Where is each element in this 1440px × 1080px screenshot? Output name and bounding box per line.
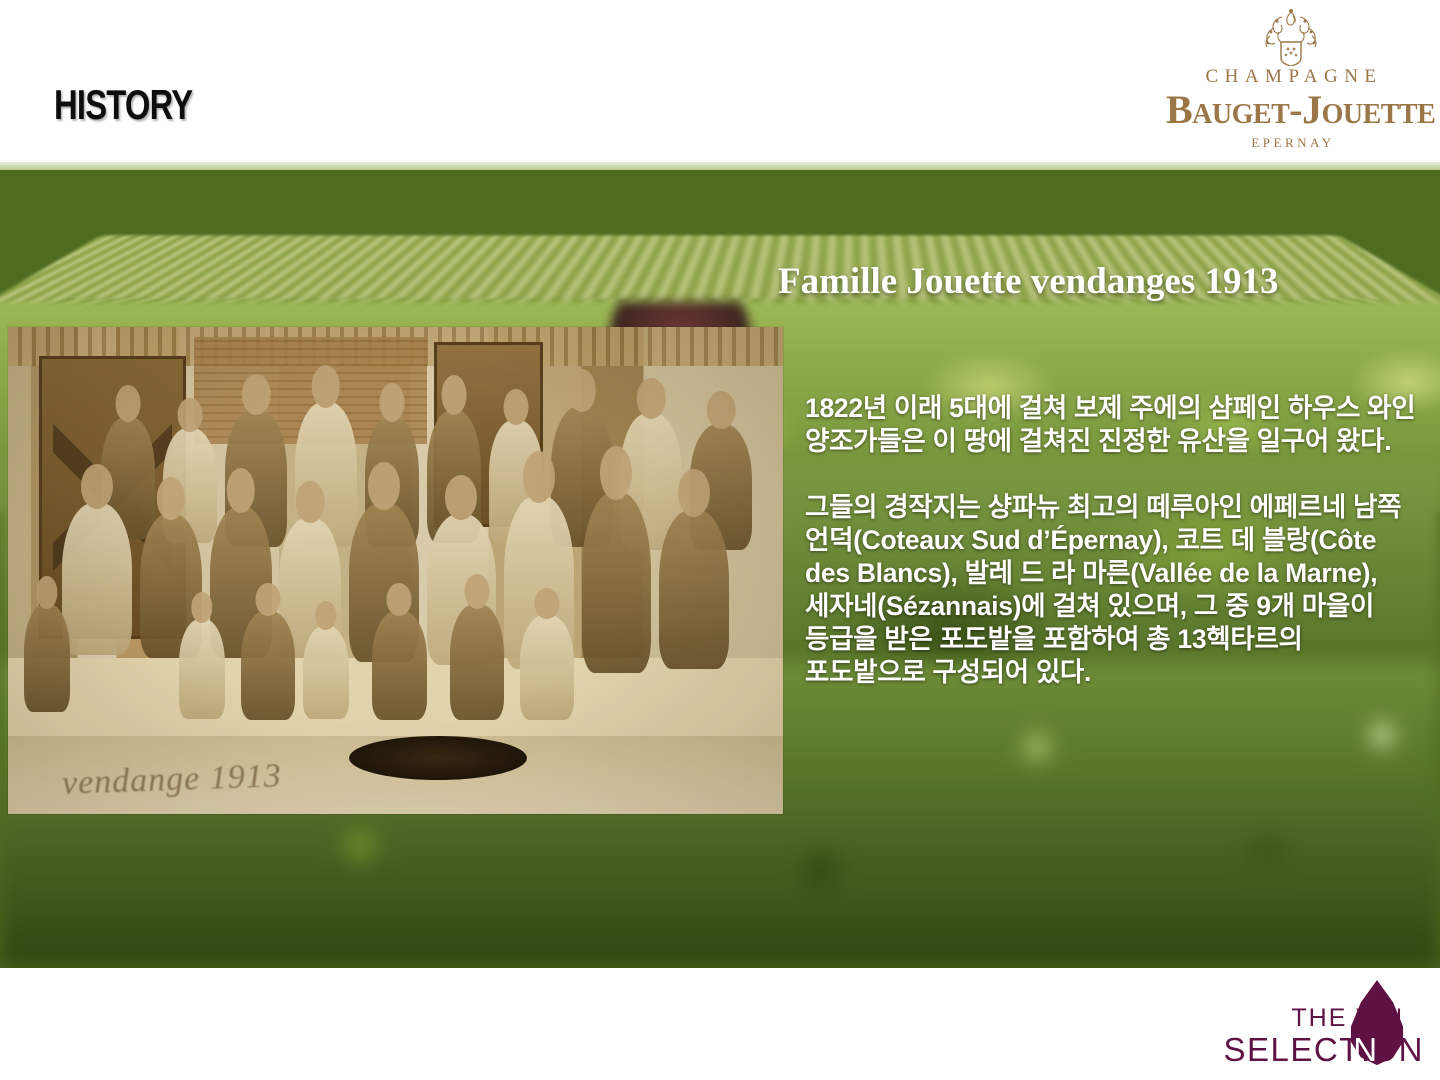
brand-logo: CHAMPAGNE Bauget-Jouette EPERNAY <box>1166 6 1416 151</box>
famille-jouette-1913-photograph: vendange 1913 <box>8 327 783 814</box>
photo-content: vendange 1913 <box>8 327 783 814</box>
brand-line-champagne: CHAMPAGNE <box>1166 66 1416 88</box>
slide-history: HISTORY <box>0 0 1440 1080</box>
content-headline: Famille Jouette vendanges 1913 <box>778 262 1438 302</box>
body-paragraph-1: 1822년 이래 5대에 걸쳐 보제 주에의 샴페인 하우스 와인 양조가들은 … <box>805 392 1425 458</box>
body-paragraph-2: 그들의 경작지는 샹파뉴 최고의 떼루아인 에페르네 남쪽 언덕(Coteaux… <box>805 491 1425 689</box>
the-vin-selection-logo: THE VIN SELECTION THE VIN SELECTION <box>1234 980 1430 1072</box>
brand-line-city: EPERNAY <box>1166 135 1416 151</box>
slide-header: HISTORY <box>0 0 1440 162</box>
photo-vignette <box>8 327 783 814</box>
vin-logo-line2: SELECTION <box>1223 1031 1424 1069</box>
page-title: HISTORY <box>54 84 192 126</box>
brand-line-name: Bauget-Jouette <box>1166 88 1416 132</box>
bg-sky <box>0 162 1440 170</box>
content-body: 1822년 이래 5대에 걸쳐 보제 주에의 샴페인 하우스 와인 양조가들은 … <box>805 392 1425 689</box>
vin-logo-line1: THE VIN <box>1291 1004 1404 1033</box>
champagne-crest-icon <box>1166 6 1416 68</box>
